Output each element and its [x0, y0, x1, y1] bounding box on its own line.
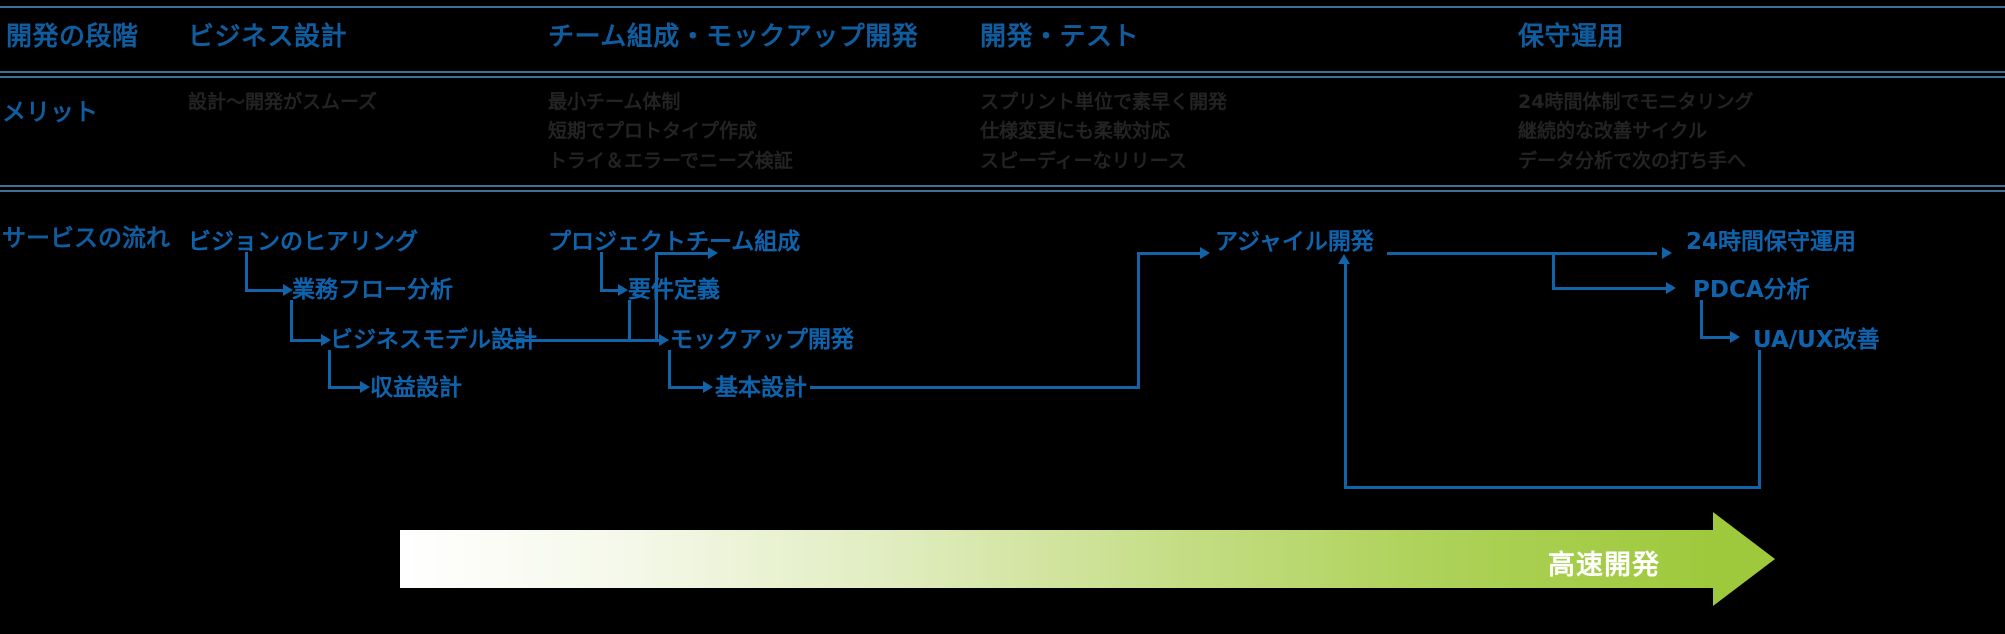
- merit-cell-maint: 24時間体制でモニタリング 継続的な改善サイクル データ分析で次の打ち手へ: [1518, 88, 1753, 176]
- arrowhead-agile-feedback: [1338, 254, 1350, 264]
- divider-top: [0, 6, 2005, 8]
- connector-bizmodel-to-revenue-h: [328, 386, 362, 389]
- connector-bizmodel-to-team-v: [655, 252, 658, 342]
- flow-node-bizmodel[interactable]: ビジネスモデル設計: [330, 320, 537, 354]
- flow-node-agile[interactable]: アジャイル開発: [1215, 222, 1374, 256]
- flow-node-maint24[interactable]: 24時間保守運用: [1686, 222, 1856, 256]
- merit-line: 継続的な改善サイクル: [1518, 117, 1753, 146]
- arrowhead-uiux: [1730, 331, 1740, 343]
- arrowhead-team: [708, 247, 718, 259]
- divider-merit-2: [0, 190, 2005, 192]
- column-header-business: ビジネス設計: [188, 16, 347, 53]
- divider-header-1: [0, 71, 2005, 73]
- speed-arrow-tip: [1713, 512, 1775, 606]
- speed-arrow-label: 高速開発: [1548, 543, 1660, 582]
- arrowhead-basedesign: [703, 381, 713, 393]
- merit-line: 仕様変更にも柔軟対応: [980, 117, 1227, 146]
- flow-node-uiux[interactable]: UA/UX改善: [1753, 320, 1880, 354]
- connector-flow-to-bizmodel-h: [290, 339, 323, 342]
- divider-merit-1: [0, 185, 2005, 187]
- arrowhead-flow: [283, 284, 293, 296]
- flow-node-vision[interactable]: ビジョンのヒアリング: [188, 222, 418, 256]
- arrowhead-mockup: [659, 334, 669, 346]
- connector-base-to-agile-h: [810, 386, 1140, 389]
- connector-vision-to-flow-v: [245, 252, 248, 292]
- connector-vision-to-flow-h: [245, 289, 285, 292]
- column-header-team: チーム組成・モックアップ開発: [548, 16, 918, 53]
- row-label-merit: メリット: [2, 92, 98, 127]
- column-header-maint: 保守運用: [1518, 16, 1624, 53]
- connector-uiux-loop-v: [1758, 350, 1761, 488]
- connector-to-agile-h: [1137, 252, 1202, 255]
- connector-require-to-mockup-v: [628, 300, 631, 340]
- arrowhead-agile: [1200, 247, 1210, 259]
- connector-bizmodel-to-revenue-v: [328, 350, 331, 388]
- flow-node-mockup[interactable]: モックアップ開発: [670, 320, 854, 354]
- merit-line: 最小チーム体制: [548, 88, 793, 117]
- column-header-dev: 開発・テスト: [980, 16, 1139, 53]
- connector-require-to-mockup-h: [628, 339, 661, 342]
- connector-uiux-loop-h: [1344, 486, 1761, 489]
- flow-node-basedesign[interactable]: 基本設計: [715, 368, 807, 402]
- arrowhead-bizmodel: [321, 334, 331, 346]
- connector-maint-to-pdca-h: [1552, 287, 1667, 290]
- flow-node-pdca[interactable]: PDCA分析: [1693, 270, 1810, 304]
- merit-line: データ分析で次の打ち手へ: [1518, 147, 1753, 176]
- merit-line: スプリント単位で素早く開発: [980, 88, 1227, 117]
- merit-cell-dev: スプリント単位で素早く開発 仕様変更にも柔軟対応 スピーディーなリリース: [980, 88, 1227, 176]
- arrowhead-pdca: [1666, 282, 1676, 294]
- connector-base-to-agile-v: [1137, 252, 1140, 389]
- connector-to-team-h: [655, 252, 710, 255]
- arrowhead-require: [618, 284, 628, 296]
- merit-line: 短期でプロトタイプ作成: [548, 117, 793, 146]
- connector-flow-to-bizmodel-v: [290, 300, 293, 340]
- merit-line: 設計〜開発がスムーズ: [188, 88, 377, 117]
- flow-node-team[interactable]: プロジェクトチーム組成: [548, 222, 800, 256]
- connector-mockup-to-base-v: [668, 350, 671, 388]
- column-header-stage: 開発の段階: [6, 16, 139, 53]
- row-label-flow: サービスの流れ: [2, 218, 170, 253]
- divider-header-2: [0, 76, 2005, 78]
- arrowhead-revenue: [360, 381, 370, 393]
- merit-line: スピーディーなリリース: [980, 147, 1227, 176]
- connector-loop-up-v: [1344, 264, 1347, 489]
- connector-pdca-to-uiux-h: [1700, 336, 1732, 339]
- speed-arrow-bar: [400, 530, 1715, 588]
- flow-node-flow[interactable]: 業務フロー分析: [292, 270, 453, 304]
- flow-node-require[interactable]: 要件定義: [628, 270, 720, 304]
- process-diagram: 開発の段階 ビジネス設計 チーム組成・モックアップ開発 開発・テスト 保守運用 …: [0, 0, 2005, 634]
- merit-cell-team: 最小チーム体制 短期でプロトタイプ作成 トライ＆エラーでニーズ検証: [548, 88, 793, 176]
- merit-line: 24時間体制でモニタリング: [1518, 88, 1753, 117]
- connector-team-to-require-h: [600, 289, 620, 292]
- connector-team-to-require-v: [600, 252, 603, 292]
- arrowhead-maint24: [1662, 247, 1672, 259]
- merit-line: トライ＆エラーでニーズ検証: [548, 147, 793, 176]
- connector-agile-to-maint-h: [1387, 252, 1657, 255]
- merit-cell-business: 設計〜開発がスムーズ: [188, 88, 377, 117]
- connector-pdca-to-uiux-v: [1700, 300, 1703, 338]
- connector-maint-to-pdca-v: [1552, 252, 1555, 290]
- flow-node-revenue[interactable]: 収益設計: [370, 368, 462, 402]
- connector-mockup-to-base-h: [668, 386, 705, 389]
